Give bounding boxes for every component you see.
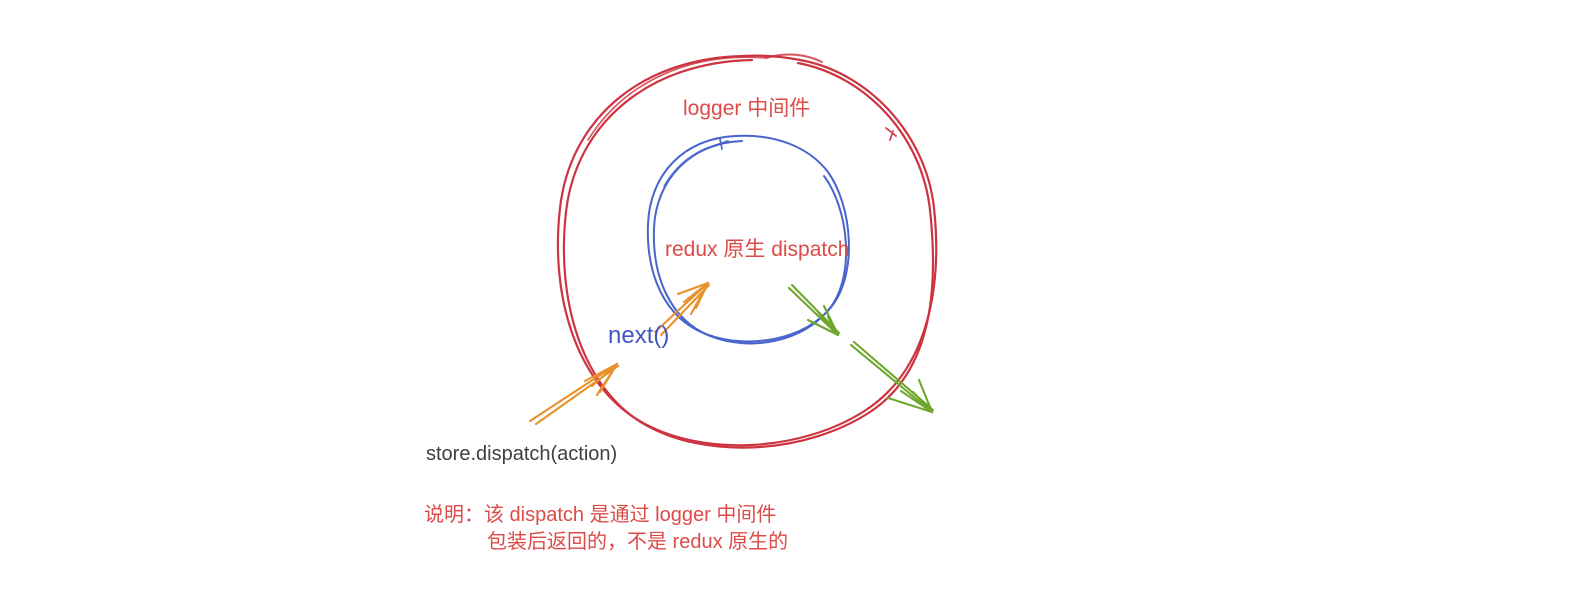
outer-circle-label: logger 中间件 <box>683 98 810 119</box>
outer-circle-tick-mark <box>886 128 896 140</box>
store-dispatch-label: store.dispatch(action) <box>426 444 617 464</box>
explanation-note: 说明：该 dispatch 是通过 logger 中间件 包装后返回的，不是 r… <box>424 502 788 556</box>
outbound-arrow-inner <box>789 285 839 335</box>
inner-circle-tick-mark <box>714 139 728 149</box>
sketch-drawing-layer <box>0 0 1579 614</box>
outbound-arrow-outer <box>851 342 933 412</box>
inbound-arrow-outer <box>530 364 618 424</box>
diagram-canvas: logger 中间件 redux 原生 dispatch next() stor… <box>0 0 1579 614</box>
next-call-label: next() <box>608 324 669 348</box>
explanation-note-line-1: 说明：该 dispatch 是通过 logger 中间件 <box>424 502 788 529</box>
explanation-note-line-2: 包装后返回的，不是 redux 原生的 <box>424 529 788 556</box>
return-flow-arrows <box>789 285 933 412</box>
inner-circle-label: redux 原生 dispatch <box>665 239 849 260</box>
next-call-arrows <box>530 283 709 424</box>
